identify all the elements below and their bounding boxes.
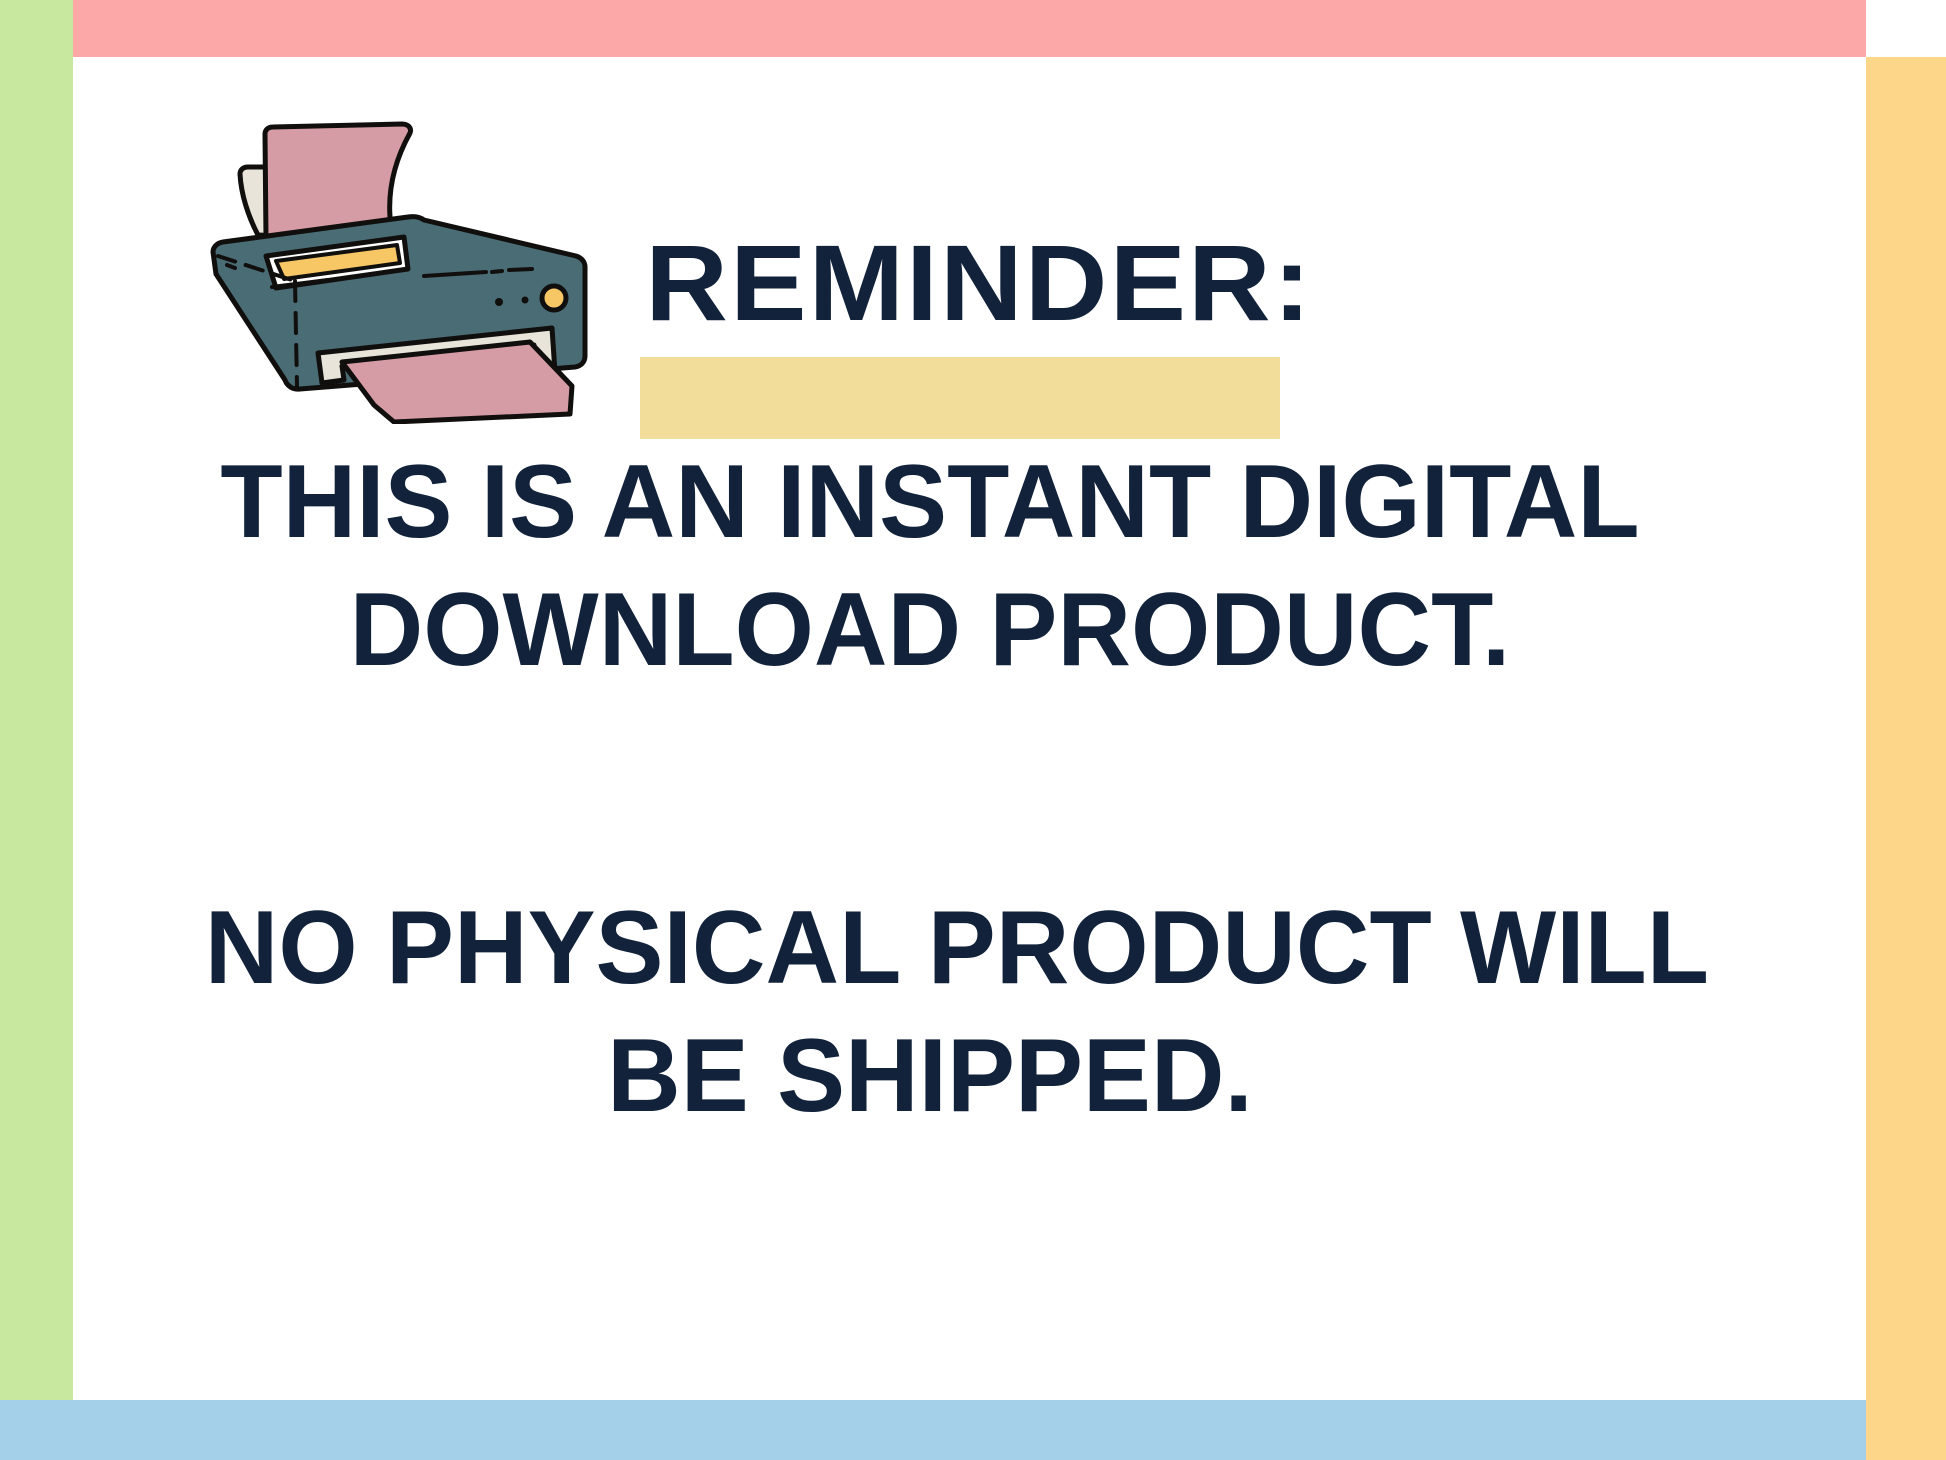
page-title: REMINDER: — [640, 228, 1318, 338]
indicator-dot-left — [495, 298, 503, 306]
body-top-edge-dash-mid — [336, 278, 346, 279]
paragraph-spacer — [190, 694, 1670, 884]
body-copy: THIS IS AN INSTANT DIGITAL DOWNLOAD PROD… — [190, 438, 1670, 1140]
right-yellow-band — [1866, 57, 1946, 1460]
printer-illustration — [196, 104, 596, 424]
left-green-band — [0, 0, 73, 1400]
paragraph-line: DOWNLOAD PRODUCT. — [205, 566, 1655, 694]
body-panel-dash-a — [492, 271, 502, 272]
body-panel-dash-b — [509, 269, 532, 270]
headline-highlight-bar — [640, 357, 1280, 439]
body-side-tick — [227, 265, 235, 268]
poster-canvas: REMINDER: THIS IS AN INSTANT DIGITAL DOW… — [0, 0, 1946, 1460]
bottom-blue-band — [0, 1400, 1866, 1460]
paragraph-line: NO PHYSICAL PRODUCT WILL — [205, 884, 1655, 1012]
headline-block: REMINDER: — [640, 228, 1300, 378]
control-button — [542, 286, 566, 310]
top-pink-band — [73, 0, 1866, 57]
indicator-dot-right — [522, 297, 529, 304]
paragraph-line: THIS IS AN INSTANT DIGITAL — [205, 438, 1655, 566]
paragraph-line: BE SHIPPED. — [205, 1012, 1655, 1140]
paragraph-no-shipping: NO PHYSICAL PRODUCT WILL BE SHIPPED. — [205, 884, 1655, 1140]
paragraph-digital-download: THIS IS AN INSTANT DIGITAL DOWNLOAD PROD… — [205, 438, 1655, 694]
